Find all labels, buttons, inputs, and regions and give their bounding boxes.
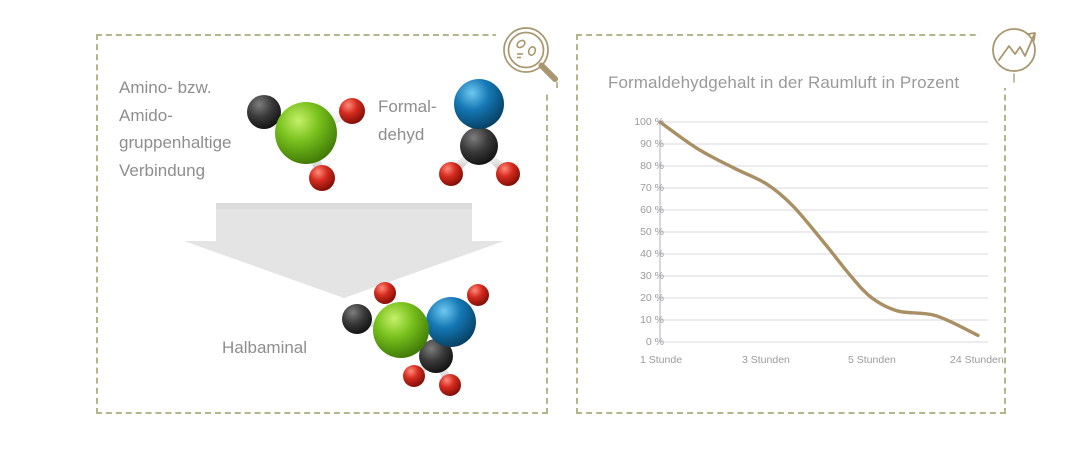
x-tick-label: 3 Stunden bbox=[742, 354, 790, 366]
chart-card: Formaldehydgehalt in der Raumluft in Pro… bbox=[596, 60, 994, 390]
y-tick-label: 20 % bbox=[640, 292, 664, 304]
y-tick-label: 0 % bbox=[646, 336, 664, 348]
x-tick-label: 24 Stunden bbox=[950, 354, 1004, 366]
product-label: Halbaminal bbox=[222, 338, 307, 358]
halbaminal-molecule bbox=[328, 272, 514, 400]
chart-plot-area: 100 %90 %80 %70 %60 %50 %40 %30 %20 %10 … bbox=[608, 122, 988, 362]
y-tick-label: 30 % bbox=[640, 270, 664, 282]
y-tick-label: 80 % bbox=[640, 160, 664, 172]
chart-title: Formaldehydgehalt in der Raumluft in Pro… bbox=[608, 73, 959, 93]
y-tick-label: 50 % bbox=[640, 226, 664, 238]
x-tick-label: 1 Stunde bbox=[640, 354, 682, 366]
amino-compound-molecule bbox=[236, 80, 376, 198]
y-tick-label: 40 % bbox=[640, 248, 664, 260]
y-tick-label: 90 % bbox=[640, 138, 664, 150]
y-tick-label: 10 % bbox=[640, 314, 664, 326]
y-tick-label: 70 % bbox=[640, 182, 664, 194]
y-tick-label: 100 % bbox=[634, 116, 664, 128]
infographic-canvas: Amino- bzw.Amido-gruppenhaltige Verbindu… bbox=[0, 0, 1080, 462]
data-series-line bbox=[660, 122, 978, 335]
y-tick-label: 60 % bbox=[640, 204, 664, 216]
x-tick-label: 5 Stunden bbox=[848, 354, 896, 366]
formaldehyde-molecule bbox=[432, 68, 532, 192]
